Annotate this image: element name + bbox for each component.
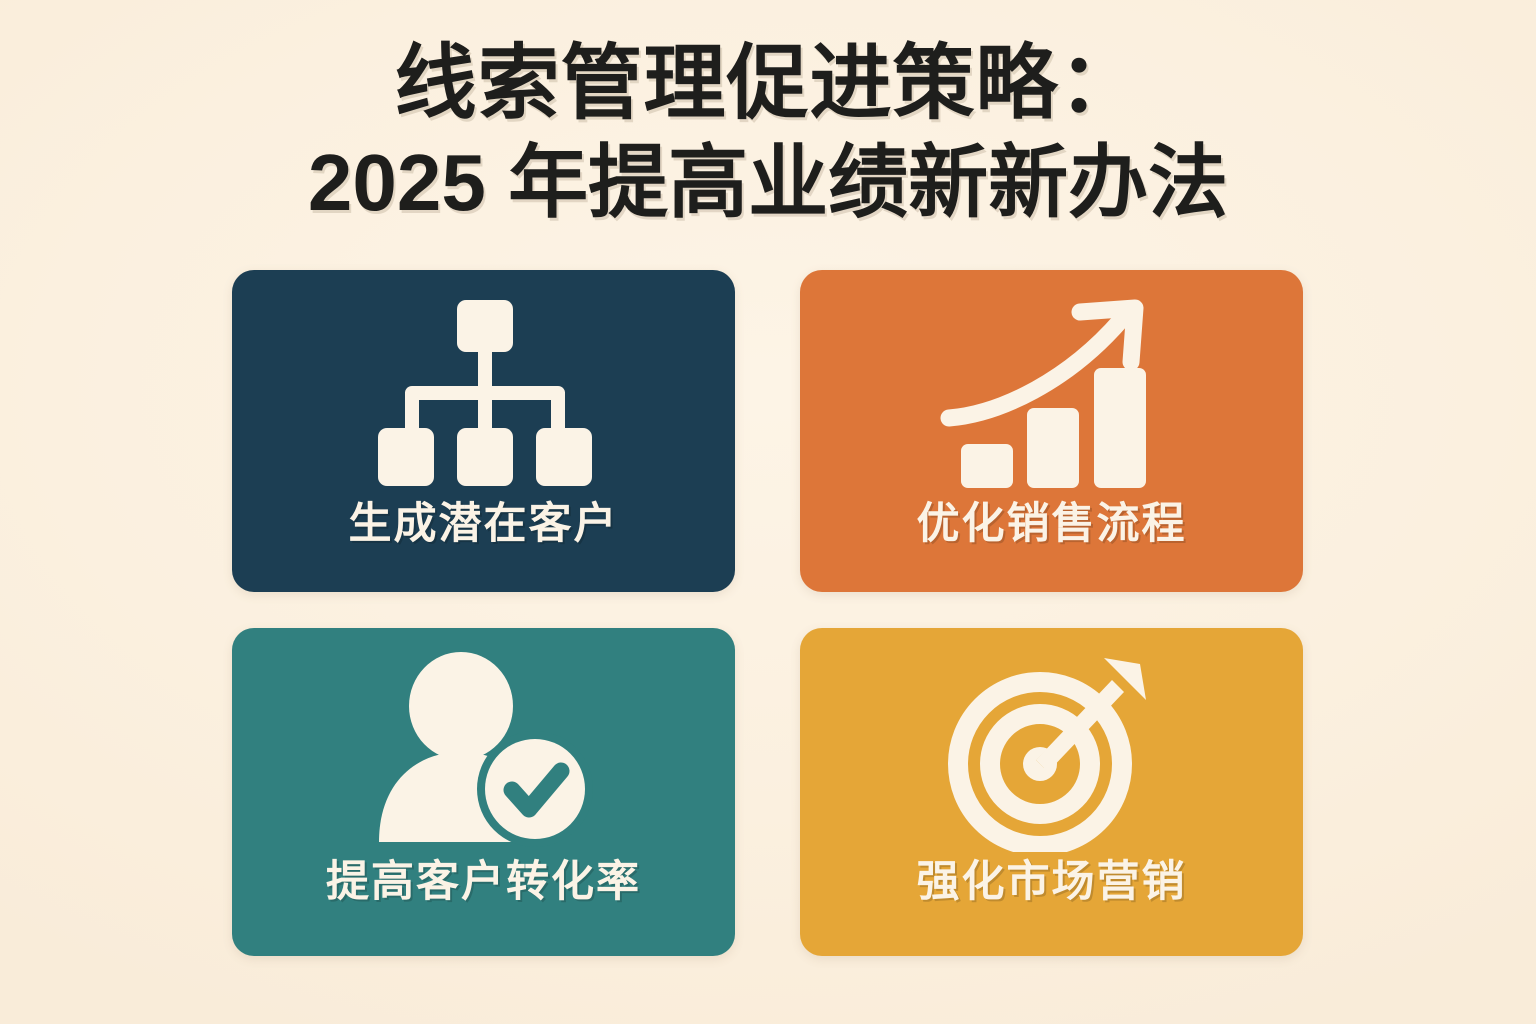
card-marketing[interactable]: 强化市场营销 — [800, 628, 1303, 956]
card-sales-process[interactable]: 优化销售流程 — [800, 270, 1303, 592]
card-label-lead-generation: 生成潜在客户 — [349, 503, 619, 592]
card-customer-conversion[interactable]: 提高客户转化率 — [232, 628, 735, 956]
infographic-poster: 线索管理促进策略： 2025 年提高业绩新新办法 — [0, 0, 1536, 1024]
user-check-icon — [232, 628, 735, 861]
card-lead-generation[interactable]: 生成潜在客户 — [232, 270, 735, 592]
page-title: 线索管理促进策略： 2025 年提高业绩新新办法 — [0, 34, 1536, 232]
strategy-card-grid: 生成潜在客户 优化销售流程 — [232, 270, 1303, 956]
target-arrow-icon — [800, 628, 1303, 861]
title-line-1: 线索管理促进策略： — [90, 34, 1446, 134]
card-label-sales-process: 优化销售流程 — [917, 503, 1187, 592]
card-label-customer-conversion: 提高客户转化率 — [326, 861, 641, 956]
card-label-marketing: 强化市场营销 — [917, 861, 1187, 956]
title-line-2: 2025 年提高业绩新新办法 — [90, 134, 1446, 232]
org-chart-icon — [232, 270, 735, 503]
growth-bar-chart-arrow-icon — [800, 270, 1303, 503]
